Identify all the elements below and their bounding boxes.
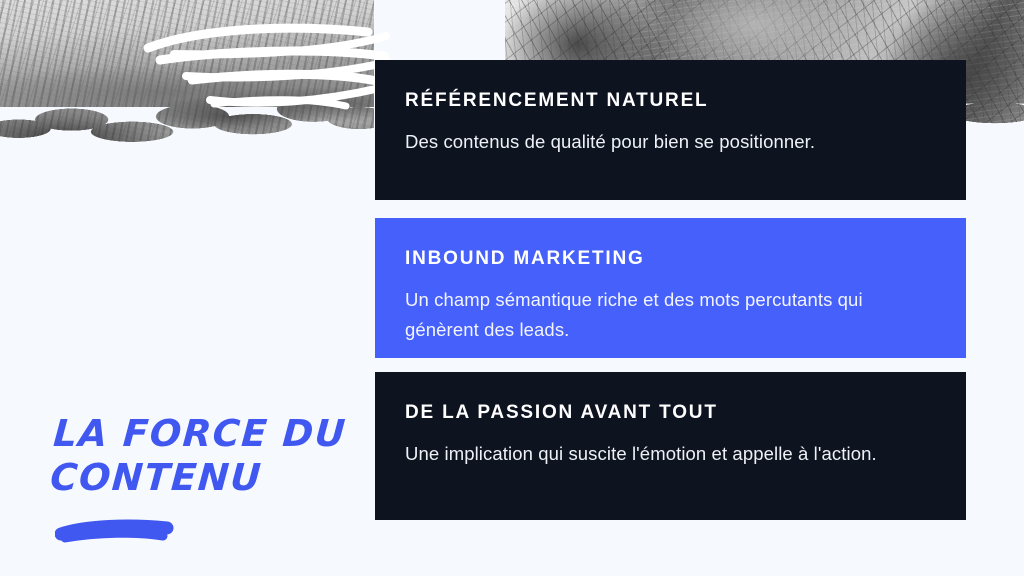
card-title: RÉFÉRENCEMENT NATUREL [405, 90, 936, 113]
feature-card-de-la-passion-avant-tout[interactable]: DE LA PASSION AVANT TOUT Une implication… [375, 372, 966, 520]
card-body: Un champ sémantique riche et des mots pe… [405, 285, 936, 345]
aerial-landscape-photo [0, 0, 374, 150]
heading-line-2: CONTENU [49, 456, 264, 499]
brush-underline-icon [55, 517, 175, 547]
feature-card-referencement-naturel[interactable]: RÉFÉRENCEMENT NATUREL Des contenus de qu… [375, 60, 966, 200]
page-title: LA FORCE DU CONTENU [49, 412, 355, 499]
card-title: DE LA PASSION AVANT TOUT [405, 402, 936, 425]
slide-canvas: RÉFÉRENCEMENT NATUREL Des contenus de qu… [0, 0, 1024, 576]
slide-heading-block: LA FORCE DU CONTENU [55, 412, 355, 499]
card-body: Une implication qui suscite l'émotion et… [405, 439, 936, 469]
card-body: Des contenus de qualité pour bien se pos… [405, 127, 936, 157]
feature-card-inbound-marketing[interactable]: INBOUND MARKETING Un champ sémantique ri… [375, 218, 966, 358]
heading-line-1: LA FORCE DU [52, 412, 348, 455]
card-title: INBOUND MARKETING [405, 248, 936, 271]
